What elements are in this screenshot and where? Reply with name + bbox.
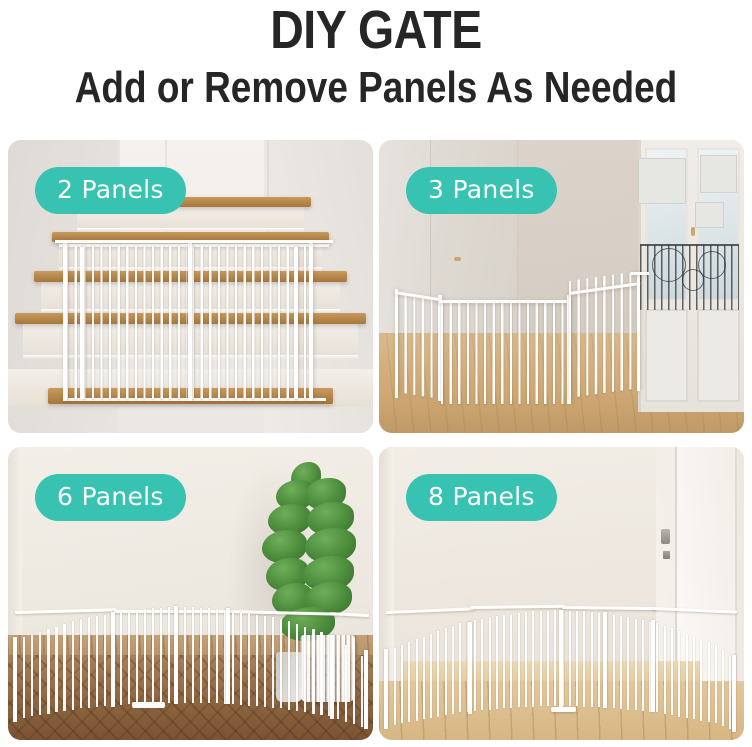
gate-joint-post-5 xyxy=(330,635,334,719)
panel-card-2-panels[interactable]: 2 Panels xyxy=(8,140,373,433)
gate-joint-post-4 xyxy=(226,608,230,704)
header: DIY GATE Add or Remove Panels As Needed xyxy=(0,0,752,114)
badge-2-panels: 2 Panels xyxy=(35,167,186,214)
gate-joint-post-6 xyxy=(364,650,368,729)
door-handle-icon xyxy=(661,529,670,544)
gate-front-top-rail xyxy=(439,300,570,303)
gate-wing-right-post xyxy=(637,273,640,390)
door-knob-icon xyxy=(454,257,461,261)
page-title: DIY GATE xyxy=(53,2,700,58)
gate-joint-post-1 xyxy=(13,637,17,721)
page-subtitle: Add or Remove Panels As Needed xyxy=(60,62,692,114)
panel-card-6-panels[interactable]: 6 Panels xyxy=(8,447,373,740)
gate-extension-left xyxy=(80,247,83,399)
gate-8-panel xyxy=(379,602,744,740)
gate-joint-post-3 xyxy=(559,610,563,708)
gate-panel-2-bars xyxy=(192,245,309,399)
panel-configuration-grid: 2 Panels xyxy=(8,140,744,740)
gate-joint-post-2 xyxy=(111,612,115,707)
gate-post-right xyxy=(309,243,312,401)
gate-joint-post-1 xyxy=(384,649,388,729)
gate-post-left xyxy=(63,243,66,401)
gate-post-center xyxy=(188,243,191,401)
badge-3-panels: 3 Panels xyxy=(406,167,557,214)
gate-latch xyxy=(132,702,165,709)
gate-latch xyxy=(551,707,577,713)
gate-extension-right xyxy=(294,247,297,399)
gate-joint-post-4 xyxy=(603,612,607,708)
gate-joint-post-5 xyxy=(651,620,655,712)
badge-8-panels: 8 Panels xyxy=(406,474,557,521)
gate-front-panel-bars xyxy=(441,301,569,404)
gate-6-panel xyxy=(8,608,373,740)
gate-joint-post-6 xyxy=(732,655,736,732)
gate-joint-post-3 xyxy=(174,606,178,704)
gate-wall-mount xyxy=(631,272,649,275)
door-lock-icon xyxy=(663,551,670,559)
gate-wing-left-bars xyxy=(396,292,440,399)
gate-wing-left-post xyxy=(395,289,398,397)
panel-card-3-panels[interactable]: 3 Panels xyxy=(379,140,744,433)
badge-6-panels: 6 Panels xyxy=(35,474,186,521)
gate-joint-post-2 xyxy=(468,622,472,714)
panel-card-8-panels[interactable]: 8 Panels xyxy=(379,447,744,740)
gate-panel-1-bars xyxy=(66,245,186,399)
gate-mount-top xyxy=(55,240,332,242)
